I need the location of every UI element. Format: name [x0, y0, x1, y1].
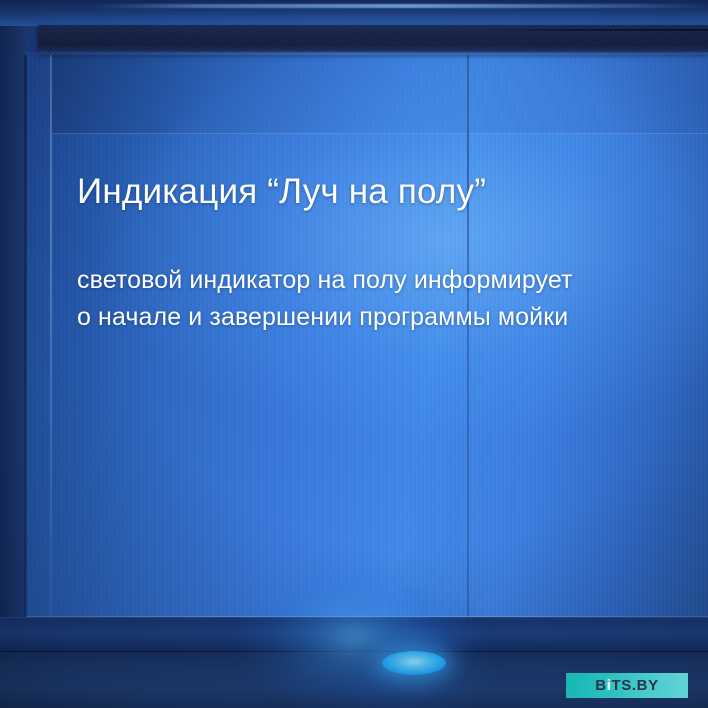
slide-text-overlay: Индикация “Луч на полу” световой индикат… [77, 172, 668, 336]
cabinet-plinth [0, 617, 708, 652]
cabinet-left-inner-seam [50, 55, 52, 620]
cabinet-center-seam [467, 55, 469, 620]
countertop-highlight [90, 4, 708, 8]
promo-slide: Индикация “Луч на полу” световой индикат… [0, 0, 708, 708]
upper-drawer-front [52, 55, 708, 134]
slide-subtitle-line-2: о начале и завершении программы мойки [77, 299, 668, 336]
slide-subtitle: световой индикатор на полу информирует о… [77, 262, 668, 336]
cabinet-door-texture [0, 52, 708, 620]
countertop-under-glow [38, 52, 708, 55]
watermark-prefix: B [595, 677, 606, 694]
cabinet-left-edge-seam [24, 55, 27, 620]
light-beam-icon [382, 651, 446, 675]
left-side-panel [0, 26, 25, 708]
kitchen-photo-scene [0, 0, 708, 708]
watermark-suffix: TS.BY [612, 677, 659, 694]
page-title: Индикация “Луч на полу” [77, 172, 668, 213]
watermark-label: BiTS.BY [595, 677, 658, 694]
slide-subtitle-line-1: световой индикатор на полу информирует [77, 262, 668, 299]
watermark-badge[interactable]: BiTS.BY [566, 673, 688, 698]
cabinet-front-panel [0, 52, 708, 620]
countertop-bar [38, 25, 708, 53]
countertop-edge-line [478, 29, 708, 31]
